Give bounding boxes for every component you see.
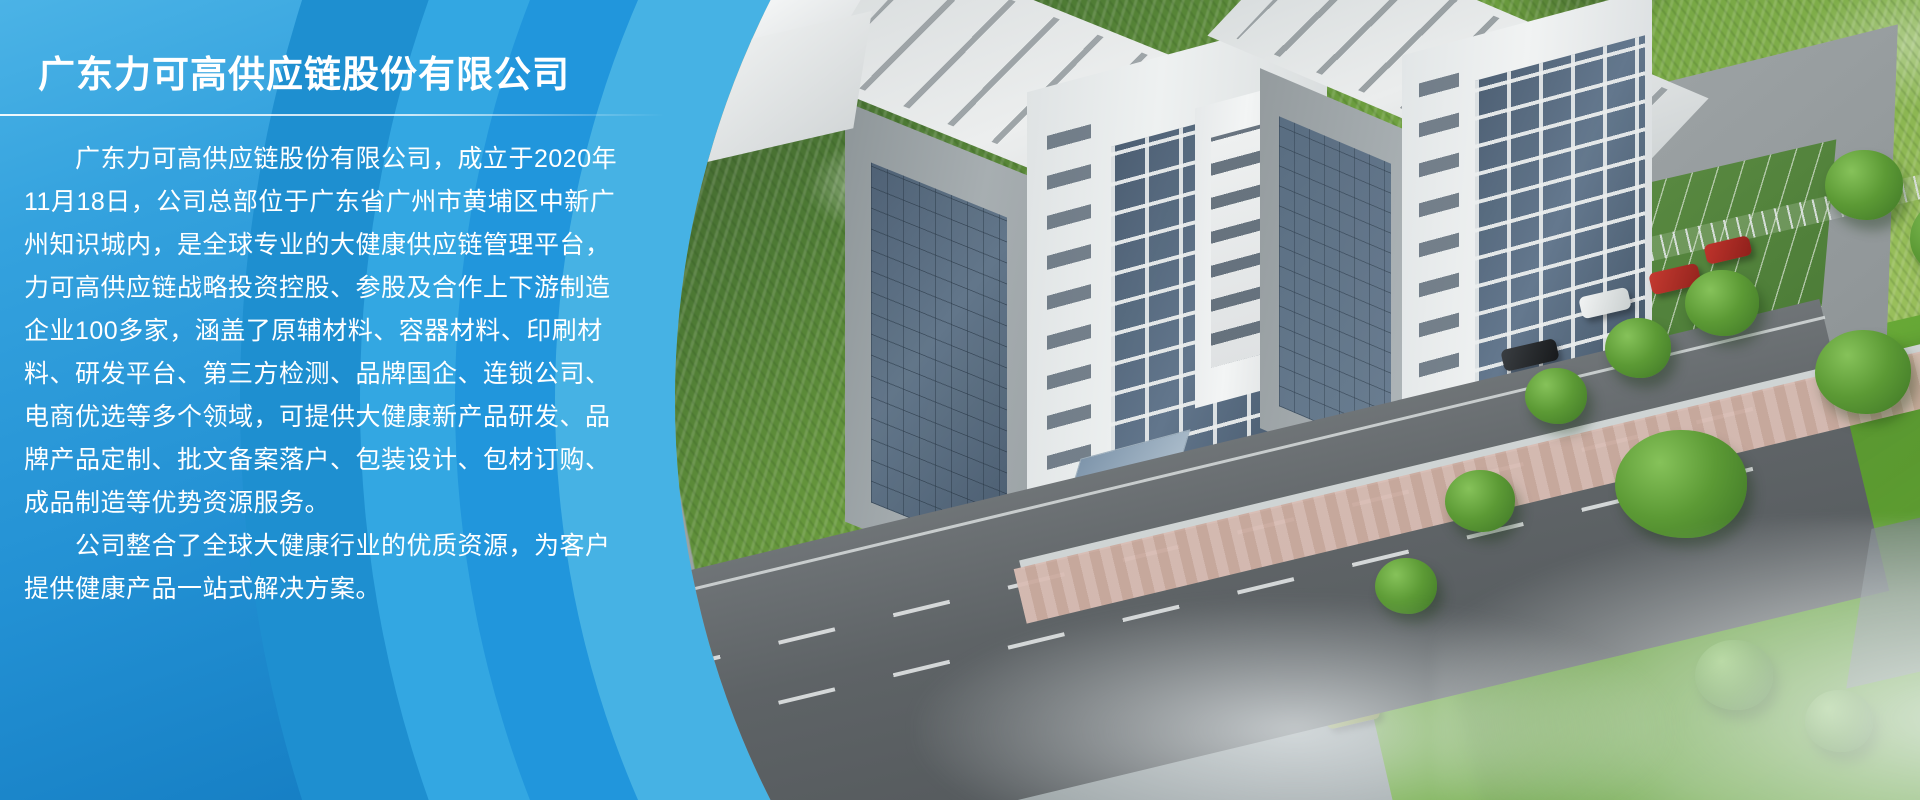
intro-paragraph-1: 广东力可高供应链股份有限公司，成立于2020年11月18日，公司总部位于广东省广… (24, 138, 624, 525)
company-intro-banner: 广东力可高供应链股份有限公司 广东力可高供应链股份有限公司，成立于2020年11… (0, 0, 1920, 800)
building-a-window-slots (1047, 104, 1091, 496)
tree (1815, 330, 1911, 414)
atmospheric-haze-left (915, 600, 1675, 800)
aerial-view-photo (675, 0, 1920, 800)
tree (1605, 318, 1671, 378)
intro-text-panel: 广东力可高供应链股份有限公司 广东力可高供应链股份有限公司，成立于2020年11… (0, 0, 620, 611)
intro-paragraph-2: 公司整合了全球大健康行业的优质资源，为客户提供健康产品一站式解决方案。 (24, 525, 624, 611)
tree (1685, 270, 1759, 336)
tree (1525, 368, 1587, 424)
page-title: 广东力可高供应链股份有限公司 (0, 0, 620, 98)
photo-canvas (675, 0, 1920, 800)
building-b-curtain-wall (1279, 116, 1391, 454)
intro-body: 广东力可高供应链股份有限公司，成立于2020年11月18日，公司总部位于广东省广… (0, 116, 624, 611)
tree (1825, 150, 1903, 220)
building-b-window-slots (1419, 73, 1459, 404)
